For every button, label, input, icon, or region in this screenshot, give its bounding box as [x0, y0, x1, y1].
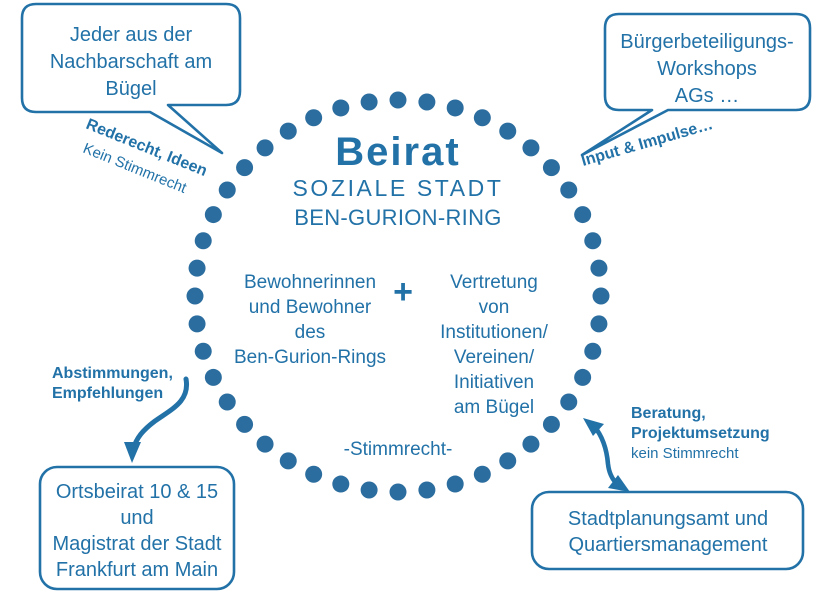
members-right-line-2: von	[479, 297, 510, 318]
callout-top-left-text: Jeder aus der Nachbarschaft am Bügel	[50, 24, 212, 100]
edge-label-abstimmungen-line-1: Abstimmungen,	[52, 365, 173, 382]
edge-label-beratung-line-1: Beratung,	[631, 405, 706, 422]
callout-bottom-left-line-1: Ortsbeirat 10 & 15	[56, 481, 218, 503]
callout-bottom-right-line-2: Quartiersmanagement	[569, 534, 768, 556]
callout-top-left-line-2: Nachbarschaft am	[50, 51, 212, 73]
members-right-line-5: Initiativen	[454, 372, 534, 393]
callout-top-left-line-1: Jeder aus der	[70, 24, 193, 46]
edge-label-beratung-line-3: kein Stimmrecht	[631, 445, 739, 462]
edge-label-abstimmungen: Abstimmungen, Empfehlungen	[52, 365, 173, 402]
callout-bottom-left-line-4: Frankfurt am Main	[56, 559, 218, 581]
members-right-line-3: Institutionen/	[440, 322, 548, 343]
callout-bottom-left-line-2: und	[120, 507, 153, 529]
voting-rights-note: -Stimmrecht-	[344, 439, 453, 460]
members-right-line-1: Vertretung	[450, 272, 538, 293]
members-left-line-3: des	[295, 322, 326, 343]
edge-label-input-impulse-text: Input & Impulse…	[579, 116, 714, 170]
edge-label-beratung-line-2: Projektumsetzung	[631, 425, 770, 442]
members-left-column: Bewohnerinnen und Bewohner des Ben-Gurio…	[234, 272, 386, 368]
callout-bottom-right-text: Stadtplanungsamt und Quartiersmanagement	[568, 508, 768, 556]
members-right-line-6: am Bügel	[454, 397, 534, 418]
members-left-line-2: und Bewohner	[249, 297, 372, 318]
callout-bottom-right-line-1: Stadtplanungsamt und	[568, 508, 768, 530]
edge-label-input-impulse: Input & Impulse…	[579, 116, 714, 170]
members-left-line-4: Ben-Gurion-Rings	[234, 347, 386, 368]
members-right-line-4: Vereinen/	[454, 347, 535, 368]
callout-top-right-line-1: Bürgerbeteiligungs-	[620, 31, 793, 53]
callout-top-left-line-3: Bügel	[105, 78, 156, 100]
plus-icon: +	[393, 273, 413, 311]
diagram-text-layer: Beirat SOZIALE STADT BEN-GURION-RING + B…	[0, 0, 820, 600]
callout-top-right-line-2: Workshops	[657, 58, 757, 80]
callout-bottom-left-text: Ortsbeirat 10 & 15 und Magistrat der Sta…	[53, 481, 222, 581]
center-subtitle-1: SOZIALE STADT	[292, 175, 503, 201]
members-right-column: Vertretung von Institutionen/ Vereinen/ …	[440, 272, 548, 418]
callout-top-right-text: Bürgerbeteiligungs- Workshops AGs …	[620, 31, 793, 107]
diagram-canvas: Beirat SOZIALE STADT BEN-GURION-RING + B…	[0, 0, 820, 600]
center-subtitle-2: BEN-GURION-RING	[294, 205, 501, 230]
callout-bottom-left-line-3: Magistrat der Stadt	[53, 533, 222, 555]
members-left-line-1: Bewohnerinnen	[244, 272, 376, 293]
edge-label-abstimmungen-line-2: Empfehlungen	[52, 385, 163, 402]
edge-label-beratung: Beratung, Projektumsetzung kein Stimmrec…	[631, 405, 770, 462]
callout-top-right-line-3: AGs …	[675, 85, 739, 107]
center-title: Beirat	[335, 130, 460, 174]
